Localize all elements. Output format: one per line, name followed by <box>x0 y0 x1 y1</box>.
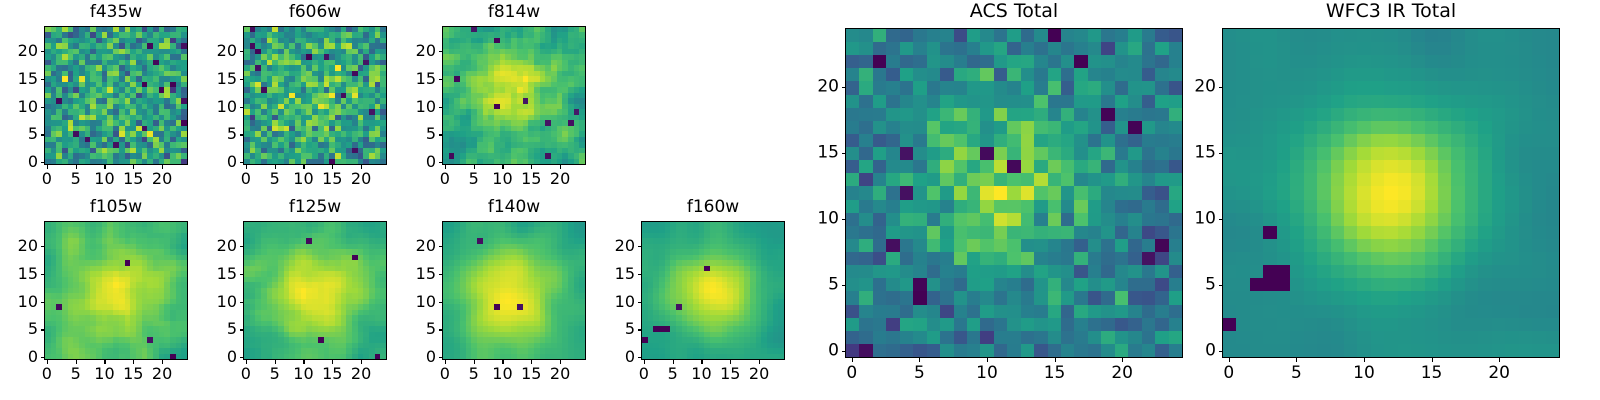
y-tick-label: 0 <box>2 154 38 170</box>
panel-title-f105w: f105w <box>44 199 188 216</box>
y-tick-label: 0 <box>599 349 635 365</box>
x-tick-label: 0 <box>440 171 450 187</box>
x-tick-mark <box>531 360 532 364</box>
x-tick-label: 5 <box>71 171 81 187</box>
x-tick-label: 5 <box>1291 365 1302 382</box>
y-tick-label: 10 <box>201 294 237 310</box>
plot-area-f125w[interactable] <box>243 221 387 360</box>
x-tick-mark <box>47 165 48 169</box>
heatmap-acs-total <box>846 29 1182 357</box>
y-tick-label: 0 <box>2 349 38 365</box>
x-tick-label: 20 <box>550 171 570 187</box>
y-tick-label: 20 <box>400 238 436 254</box>
y-tick-label: 20 <box>599 238 635 254</box>
y-tick-label: 10 <box>599 294 635 310</box>
x-tick-mark <box>361 360 362 364</box>
y-tick-label: 15 <box>201 71 237 87</box>
x-tick-label: 20 <box>351 171 371 187</box>
x-tick-mark <box>104 360 105 364</box>
x-tick-mark <box>162 165 163 169</box>
x-tick-label: 5 <box>914 365 925 382</box>
x-tick-mark <box>246 165 247 169</box>
plot-area-f140w[interactable] <box>442 221 586 360</box>
x-tick-mark <box>531 165 532 169</box>
panel-title-f160w: f160w <box>641 199 785 216</box>
x-tick-mark <box>275 360 276 364</box>
x-tick-mark <box>1229 358 1230 362</box>
y-tick-label: 0 <box>201 349 237 365</box>
y-tick-label: 0 <box>400 154 436 170</box>
x-tick-label: 10 <box>94 366 114 382</box>
heatmap-f125w <box>244 222 386 359</box>
x-tick-mark <box>1364 358 1365 362</box>
x-tick-label: 0 <box>440 366 450 382</box>
x-tick-label: 5 <box>469 366 479 382</box>
x-tick-label: 15 <box>1421 365 1443 382</box>
y-tick-label: 15 <box>2 266 38 282</box>
x-tick-label: 10 <box>293 366 313 382</box>
x-tick-label: 5 <box>71 366 81 382</box>
plot-area-f814w[interactable] <box>442 26 586 165</box>
y-tick-label: 0 <box>799 343 839 360</box>
plot-area-wfc3-ir-total[interactable] <box>1222 28 1560 358</box>
x-tick-label: 10 <box>492 366 512 382</box>
x-tick-mark <box>303 360 304 364</box>
y-tick-label: 20 <box>2 238 38 254</box>
x-tick-label: 15 <box>123 171 143 187</box>
x-tick-label: 10 <box>293 171 313 187</box>
x-tick-mark <box>275 165 276 169</box>
x-tick-mark <box>644 360 645 364</box>
y-tick-label: 0 <box>201 154 237 170</box>
y-tick-label: 10 <box>2 294 38 310</box>
x-tick-label: 0 <box>1223 365 1234 382</box>
y-tick-label: 5 <box>201 126 237 142</box>
y-tick-label: 10 <box>400 294 436 310</box>
x-tick-mark <box>76 360 77 364</box>
y-tick-label: 10 <box>400 99 436 115</box>
plot-area-f606w[interactable] <box>243 26 387 165</box>
y-tick-label: 20 <box>201 43 237 59</box>
panel-title-wfc3-ir-total: WFC3 IR Total <box>1222 2 1560 21</box>
y-tick-label: 15 <box>400 71 436 87</box>
y-tick-label: 15 <box>599 266 635 282</box>
panel-title-f606w: f606w <box>243 4 387 21</box>
heatmap-f606w <box>244 27 386 164</box>
x-tick-mark <box>104 165 105 169</box>
x-tick-label: 0 <box>42 366 52 382</box>
x-tick-mark <box>919 358 920 362</box>
x-tick-label: 15 <box>322 171 342 187</box>
figure-canvas: f435w0055101015152020f606w00551010151520… <box>0 0 1600 400</box>
x-tick-mark <box>246 360 247 364</box>
y-tick-label: 20 <box>201 238 237 254</box>
y-tick-label: 15 <box>400 266 436 282</box>
heatmap-f140w <box>443 222 585 359</box>
x-tick-label: 20 <box>550 366 570 382</box>
y-tick-label: 10 <box>201 99 237 115</box>
x-tick-mark <box>133 360 134 364</box>
panel-title-f435w: f435w <box>44 4 188 21</box>
x-tick-mark <box>502 360 503 364</box>
x-tick-label: 20 <box>1111 365 1133 382</box>
heatmap-f160w <box>642 222 784 359</box>
x-tick-label: 20 <box>749 366 769 382</box>
y-tick-label: 5 <box>599 321 635 337</box>
x-tick-mark <box>730 360 731 364</box>
x-tick-label: 0 <box>846 365 857 382</box>
x-tick-mark <box>332 360 333 364</box>
y-tick-label: 20 <box>2 43 38 59</box>
y-tick-label: 5 <box>400 126 436 142</box>
x-tick-mark <box>162 360 163 364</box>
panel-wfc3-ir-total: WFC3 IR Total0055101015152020 <box>0 0 1600 400</box>
heatmap-f435w <box>45 27 187 164</box>
x-tick-label: 5 <box>270 171 280 187</box>
x-tick-mark <box>701 360 702 364</box>
y-tick-label: 15 <box>799 145 839 162</box>
x-tick-label: 5 <box>668 366 678 382</box>
y-tick-label: 5 <box>201 321 237 337</box>
heatmap-f105w <box>45 222 187 359</box>
x-tick-label: 10 <box>1353 365 1375 382</box>
x-tick-mark <box>1432 358 1433 362</box>
y-tick-label: 10 <box>799 211 839 228</box>
x-tick-mark <box>852 358 853 362</box>
x-tick-mark <box>673 360 674 364</box>
y-tick-label: 5 <box>2 126 38 142</box>
x-tick-mark <box>1499 358 1500 362</box>
y-tick-label: 15 <box>201 266 237 282</box>
x-tick-label: 20 <box>1488 365 1510 382</box>
y-tick-label: 5 <box>400 321 436 337</box>
x-tick-label: 20 <box>351 366 371 382</box>
y-tick-label: 15 <box>2 71 38 87</box>
heatmap-wfc3-ir-total <box>1223 29 1559 357</box>
heatmap-f814w <box>443 27 585 164</box>
x-tick-label: 15 <box>521 366 541 382</box>
plot-area-f160w[interactable] <box>641 221 785 360</box>
x-tick-label: 10 <box>976 365 998 382</box>
panel-title-f814w: f814w <box>442 4 586 21</box>
x-tick-mark <box>560 165 561 169</box>
panel-title-acs-total: ACS Total <box>845 2 1183 21</box>
x-tick-label: 5 <box>469 171 479 187</box>
x-tick-label: 15 <box>123 366 143 382</box>
x-tick-label: 0 <box>241 366 251 382</box>
x-tick-mark <box>759 360 760 364</box>
plot-area-f435w[interactable] <box>44 26 188 165</box>
y-tick-label: 20 <box>400 43 436 59</box>
x-tick-mark <box>1296 358 1297 362</box>
x-tick-mark <box>987 358 988 362</box>
x-tick-label: 0 <box>241 171 251 187</box>
x-tick-mark <box>474 165 475 169</box>
x-tick-mark <box>303 165 304 169</box>
x-tick-label: 0 <box>42 171 52 187</box>
x-tick-label: 10 <box>691 366 711 382</box>
x-tick-label: 15 <box>322 366 342 382</box>
x-tick-mark <box>502 165 503 169</box>
x-tick-label: 15 <box>1044 365 1066 382</box>
plot-area-f105w[interactable] <box>44 221 188 360</box>
x-tick-mark <box>332 165 333 169</box>
y-tick-label: 0 <box>400 349 436 365</box>
x-tick-mark <box>445 165 446 169</box>
x-tick-label: 10 <box>94 171 114 187</box>
y-tick-label: 5 <box>799 277 839 294</box>
x-tick-label: 10 <box>492 171 512 187</box>
x-tick-mark <box>474 360 475 364</box>
y-tick-label: 10 <box>2 99 38 115</box>
panel-title-f140w: f140w <box>442 199 586 216</box>
plot-area-acs-total[interactable] <box>845 28 1183 358</box>
x-tick-mark <box>76 165 77 169</box>
x-tick-mark <box>1122 358 1123 362</box>
x-tick-label: 20 <box>152 171 172 187</box>
x-tick-label: 15 <box>720 366 740 382</box>
x-tick-label: 0 <box>639 366 649 382</box>
x-tick-mark <box>133 165 134 169</box>
x-tick-mark <box>1055 358 1056 362</box>
x-tick-label: 20 <box>152 366 172 382</box>
x-tick-label: 5 <box>270 366 280 382</box>
x-tick-mark <box>47 360 48 364</box>
panel-title-f125w: f125w <box>243 199 387 216</box>
y-tick-label: 20 <box>799 79 839 96</box>
x-tick-mark <box>560 360 561 364</box>
x-tick-label: 15 <box>521 171 541 187</box>
x-tick-mark <box>361 165 362 169</box>
y-tick-label: 5 <box>2 321 38 337</box>
x-tick-mark <box>445 360 446 364</box>
